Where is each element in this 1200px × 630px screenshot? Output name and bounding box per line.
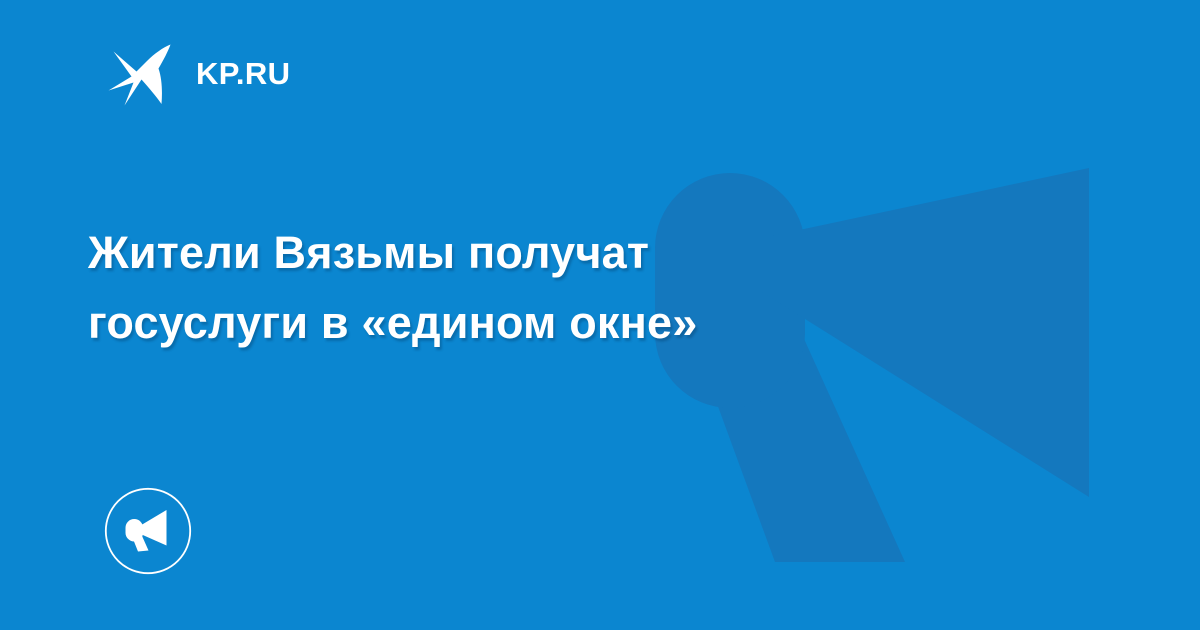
brand-name: KP.RU [196,58,290,89]
page-title-line-2: госуслуги в «едином окне» [88,288,968,358]
page-title: Жители Вязьмы получат госуслуги в «едино… [88,218,968,358]
megaphone-glyph [126,510,167,552]
social-share-card: KP.RU Жители Вязьмы получат госуслуги в … [0,0,1200,630]
megaphone-badge[interactable] [104,487,192,575]
page-title-line-1: Жители Вязьмы получат [88,218,968,288]
swallow-bird-icon [106,38,174,108]
brand-header[interactable]: KP.RU [106,38,290,108]
megaphone-icon [104,487,192,575]
